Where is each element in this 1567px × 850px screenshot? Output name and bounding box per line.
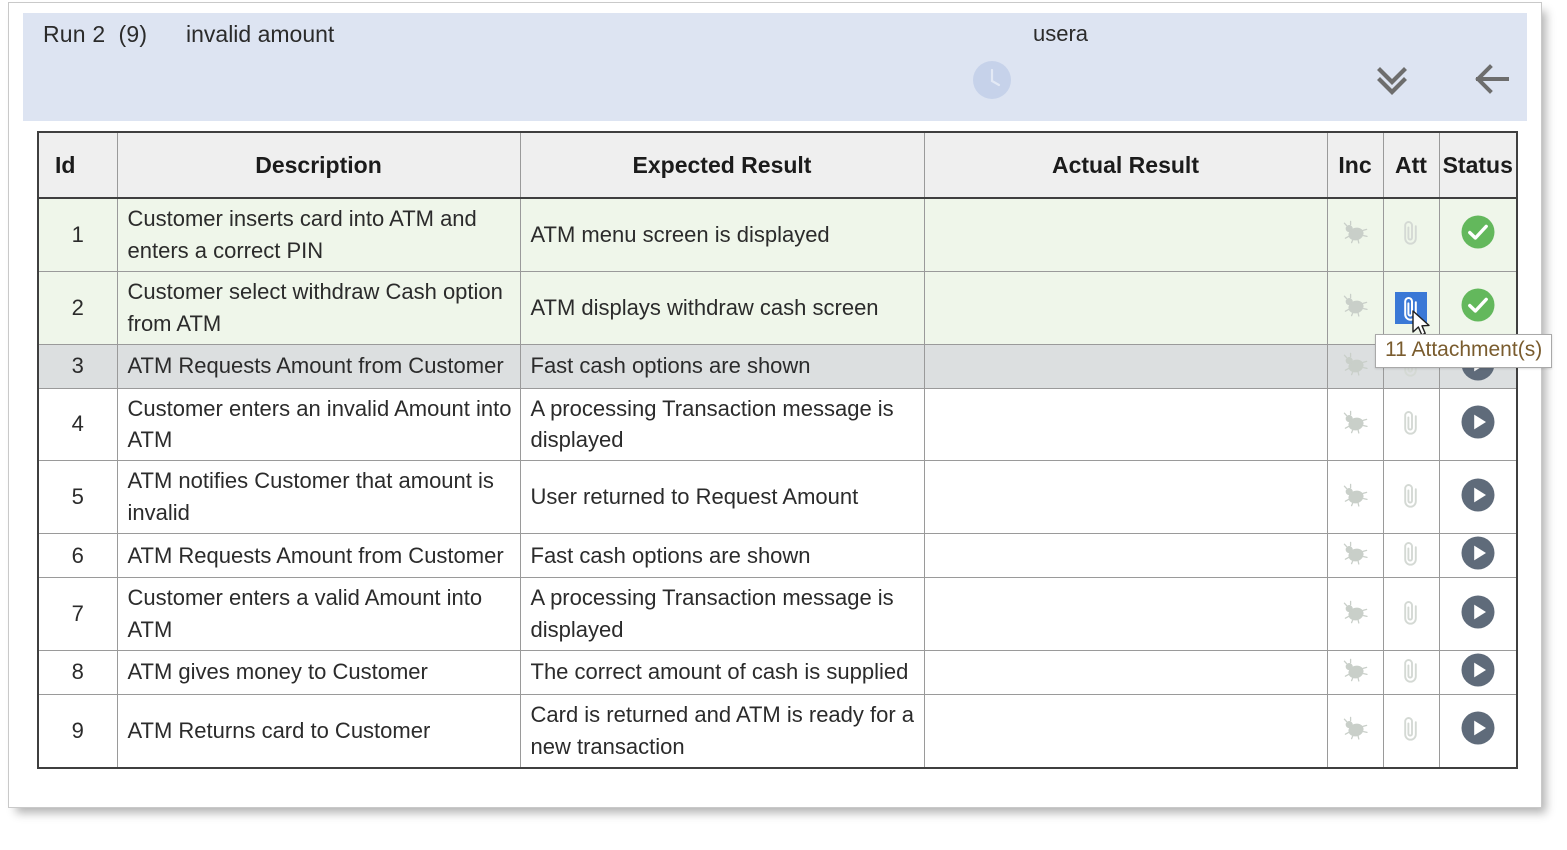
attachment-tooltip: 11 Attachment(s) [1375, 334, 1552, 368]
cell-description[interactable]: Customer select withdraw Cash option fro… [117, 271, 520, 344]
cell-id: 2 [38, 271, 117, 344]
cell-status[interactable] [1439, 694, 1517, 767]
column-header-expected-result[interactable]: Expected Result [520, 132, 924, 198]
double-chevron-down-icon[interactable] [1368, 55, 1416, 103]
cell-incident[interactable] [1327, 198, 1383, 271]
cell-incident[interactable] [1327, 694, 1383, 767]
cell-expected-result[interactable]: Fast cash options are shown [520, 344, 924, 388]
cell-incident[interactable] [1327, 461, 1383, 534]
cell-expected-result[interactable]: ATM displays withdraw cash screen [520, 271, 924, 344]
bug-icon[interactable] [1340, 597, 1370, 632]
cell-attachment[interactable] [1383, 650, 1439, 694]
table-row[interactable]: 1Customer inserts card into ATM and ente… [38, 198, 1517, 271]
play-circle-icon[interactable] [1459, 709, 1497, 752]
bug-icon[interactable] [1340, 407, 1370, 442]
cell-status[interactable] [1439, 578, 1517, 651]
cell-id: 6 [38, 534, 117, 578]
cell-status[interactable] [1439, 534, 1517, 578]
column-header-id[interactable]: Id [38, 132, 117, 198]
bug-icon[interactable] [1340, 655, 1370, 690]
table-row[interactable]: 4Customer enters an invalid Amount into … [38, 388, 1517, 461]
paperclip-icon[interactable] [1398, 538, 1424, 573]
cell-attachment[interactable] [1383, 198, 1439, 271]
play-circle-icon[interactable] [1459, 651, 1497, 694]
table-row[interactable]: 6ATM Requests Amount from CustomerFast c… [38, 534, 1517, 578]
cell-id: 7 [38, 578, 117, 651]
cell-id: 3 [38, 344, 117, 388]
app-root: Run 2 (9) invalid amount usera [0, 0, 1567, 850]
cell-status[interactable] [1439, 198, 1517, 271]
back-arrow-icon[interactable] [1468, 55, 1516, 103]
bug-icon[interactable] [1340, 480, 1370, 515]
table-row[interactable]: 9ATM Returns card to CustomerCard is ret… [38, 694, 1517, 767]
table-header-row: Id Description Expected Result Actual Re… [38, 132, 1517, 198]
paperclip-icon[interactable] [1398, 597, 1424, 632]
test-steps-table: Id Description Expected Result Actual Re… [37, 131, 1518, 769]
cell-actual-result[interactable] [924, 198, 1327, 271]
paperclip-icon[interactable] [1398, 655, 1424, 690]
cell-expected-result[interactable]: Fast cash options are shown [520, 534, 924, 578]
check-circle-icon[interactable] [1459, 213, 1497, 256]
run-header-bar: Run 2 (9) invalid amount usera [23, 13, 1527, 121]
bug-icon[interactable] [1340, 217, 1370, 252]
cell-actual-result[interactable] [924, 578, 1327, 651]
cell-attachment[interactable] [1383, 694, 1439, 767]
cell-expected-result[interactable]: ATM menu screen is displayed [520, 198, 924, 271]
cell-actual-result[interactable] [924, 344, 1327, 388]
cell-id: 8 [38, 650, 117, 694]
cell-actual-result[interactable] [924, 534, 1327, 578]
run-name: invalid amount [186, 21, 334, 48]
table-body: 1Customer inserts card into ATM and ente… [38, 198, 1517, 768]
bug-icon[interactable] [1340, 290, 1370, 325]
column-header-inc[interactable]: Inc [1327, 132, 1383, 198]
cell-expected-result[interactable]: A processing Transaction message is disp… [520, 388, 924, 461]
cell-attachment[interactable] [1383, 578, 1439, 651]
cell-attachment[interactable] [1383, 461, 1439, 534]
clock-icon [972, 60, 1012, 100]
cell-id: 1 [38, 198, 117, 271]
cell-incident[interactable] [1327, 388, 1383, 461]
paperclip-icon[interactable] [1398, 217, 1424, 252]
test-run-panel: Run 2 (9) invalid amount usera [8, 2, 1542, 808]
cell-description[interactable]: ATM notifies Customer that amount is inv… [117, 461, 520, 534]
cell-expected-result[interactable]: User returned to Request Amount [520, 461, 924, 534]
cell-incident[interactable] [1327, 534, 1383, 578]
cell-incident[interactable] [1327, 578, 1383, 651]
paperclip-icon[interactable] [1398, 480, 1424, 515]
cell-actual-result[interactable] [924, 271, 1327, 344]
cell-actual-result[interactable] [924, 461, 1327, 534]
cell-actual-result[interactable] [924, 694, 1327, 767]
cell-actual-result[interactable] [924, 388, 1327, 461]
check-circle-icon[interactable] [1459, 286, 1497, 329]
cell-description[interactable]: ATM Requests Amount from Customer [117, 534, 520, 578]
run-user: usera [1033, 21, 1088, 47]
play-circle-icon[interactable] [1459, 476, 1497, 519]
cell-id: 9 [38, 694, 117, 767]
cell-expected-result[interactable]: A processing Transaction message is disp… [520, 578, 924, 651]
cell-id: 5 [38, 461, 117, 534]
test-steps-grid-wrapper: Id Description Expected Result Actual Re… [37, 131, 1532, 799]
bug-icon[interactable] [1340, 538, 1370, 573]
cell-id: 4 [38, 388, 117, 461]
cell-description[interactable]: Customer inserts card into ATM and enter… [117, 198, 520, 271]
cell-description[interactable]: Customer enters a valid Amount into ATM [117, 578, 520, 651]
play-circle-icon[interactable] [1459, 593, 1497, 636]
cell-description[interactable]: ATM Returns card to Customer [117, 694, 520, 767]
table-row[interactable]: 3ATM Requests Amount from CustomerFast c… [38, 344, 1517, 388]
column-header-att[interactable]: Att [1383, 132, 1439, 198]
column-header-description[interactable]: Description [117, 132, 520, 198]
table-row[interactable]: 8ATM gives money to CustomerThe correct … [38, 650, 1517, 694]
play-circle-icon[interactable] [1459, 534, 1497, 577]
cell-status[interactable] [1439, 388, 1517, 461]
column-header-status[interactable]: Status [1439, 132, 1517, 198]
cell-description[interactable]: ATM gives money to Customer [117, 650, 520, 694]
table-row[interactable]: 5ATM notifies Customer that amount is in… [38, 461, 1517, 534]
cell-status[interactable] [1439, 650, 1517, 694]
cell-description[interactable]: ATM Requests Amount from Customer [117, 344, 520, 388]
paperclip-icon[interactable] [1398, 713, 1424, 748]
cell-attachment[interactable] [1383, 388, 1439, 461]
cell-actual-result[interactable] [924, 650, 1327, 694]
paperclip-icon[interactable] [1395, 292, 1427, 324]
cell-incident[interactable] [1327, 650, 1383, 694]
cell-attachment[interactable] [1383, 534, 1439, 578]
bug-icon[interactable] [1340, 713, 1370, 748]
cell-description[interactable]: Customer enters an invalid Amount into A… [117, 388, 520, 461]
table-row[interactable]: 2Customer select withdraw Cash option fr… [38, 271, 1517, 344]
cell-expected-result[interactable]: Card is returned and ATM is ready for a … [520, 694, 924, 767]
bug-icon[interactable] [1340, 349, 1370, 384]
cell-status[interactable] [1439, 461, 1517, 534]
paperclip-icon[interactable] [1398, 407, 1424, 442]
column-header-actual-result[interactable]: Actual Result [924, 132, 1327, 198]
run-label: Run 2 (9) [43, 21, 147, 48]
cell-expected-result[interactable]: The correct amount of cash is supplied [520, 650, 924, 694]
play-circle-icon[interactable] [1459, 403, 1497, 446]
table-row[interactable]: 7Customer enters a valid Amount into ATM… [38, 578, 1517, 651]
